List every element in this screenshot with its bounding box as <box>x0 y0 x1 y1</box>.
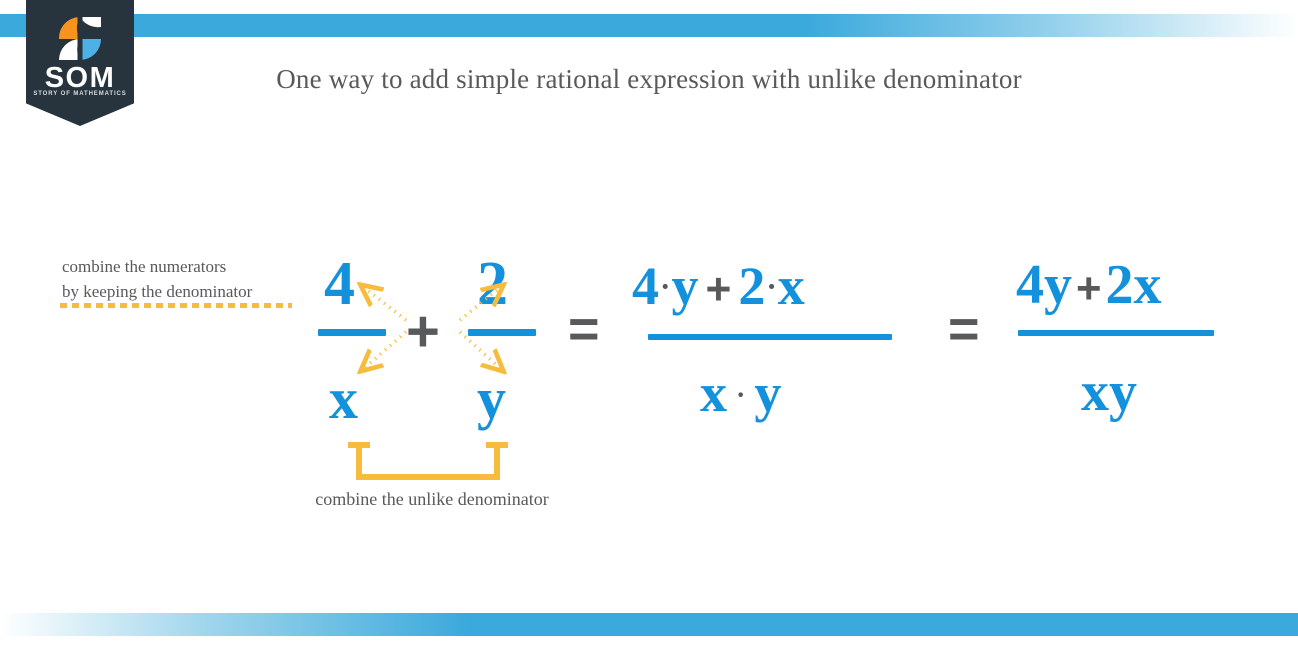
page-title: One way to add simple rational expressio… <box>0 64 1298 95</box>
multiply-dot-2: · <box>765 269 777 305</box>
fraction3-num-right: 2x <box>1106 254 1162 316</box>
fraction2-num-term1-var: y <box>671 256 698 316</box>
som-logo: SOM STORY OF MATHEMATICS <box>26 0 134 126</box>
fraction2-numerator: 4·y+2·x <box>632 255 805 317</box>
annotation-combine-numerators: combine the numerators by keeping the de… <box>62 255 302 304</box>
fraction2-den-right: y <box>754 363 781 423</box>
annotation-line-1: combine the numerators <box>62 255 302 280</box>
top-accent-bar <box>0 14 1298 37</box>
logo-tagline: STORY OF MATHEMATICS <box>26 91 134 97</box>
annotation-line-2: by keeping the denominator <box>62 280 302 305</box>
multiply-dot-3: · <box>727 380 754 412</box>
fraction3-bar <box>1018 330 1214 336</box>
fraction2-num-operator: + <box>698 265 738 314</box>
som-s-mark-icon <box>58 16 102 62</box>
fraction2-denominator: x·y <box>700 362 781 424</box>
fraction2-num-term2-var: x <box>778 256 805 316</box>
fraction2-den-left: x <box>700 363 727 423</box>
fraction2-num-term2-coeff: 2 <box>738 256 765 316</box>
annotation-combine-denominator: combine the unlike denominator <box>0 489 864 510</box>
fraction3-denominator: xy <box>1081 360 1137 424</box>
fraction3-num-operator: + <box>1072 264 1106 313</box>
fraction2-num-term1-coeff: 4 <box>632 256 659 316</box>
logo-wordmark: SOM <box>26 64 134 93</box>
bottom-accent-bar <box>0 613 1298 636</box>
denominator-bracket <box>344 440 512 482</box>
equals-sign-2: = <box>948 302 980 356</box>
fraction2-bar <box>648 334 892 340</box>
equals-sign-1: = <box>568 302 600 356</box>
multiply-dot-1: · <box>659 269 671 305</box>
fraction3-numerator: 4y+2x <box>1016 253 1162 317</box>
fraction3-num-left: 4y <box>1016 254 1072 316</box>
dotted-arrows-group <box>340 270 570 385</box>
annotation-dotted-underline <box>60 303 292 308</box>
